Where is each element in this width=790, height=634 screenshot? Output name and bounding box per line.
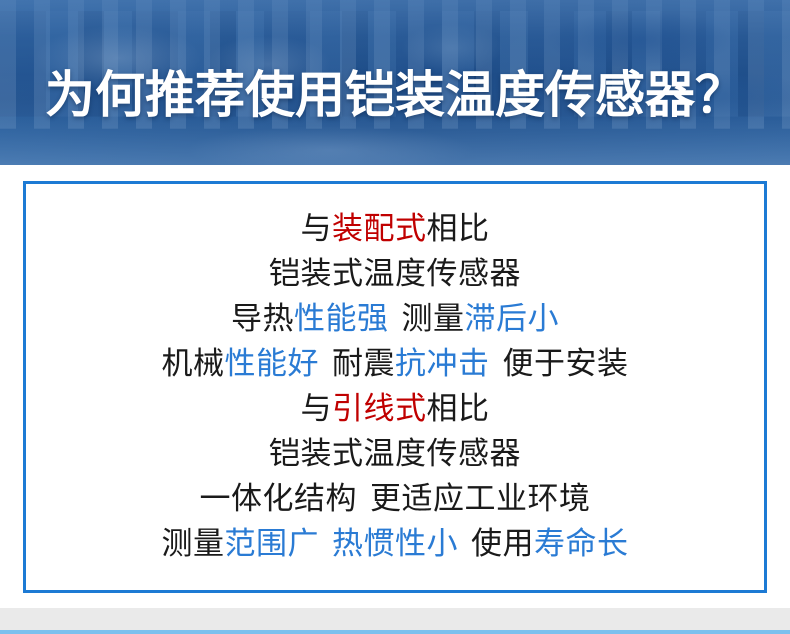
text-segment-black: 与 — [301, 391, 333, 426]
text-segment-black: 便于安装 — [503, 346, 629, 381]
text-segment-blue: 寿命长 — [534, 526, 629, 561]
text-segment-black: 铠装式温度传感器 — [269, 436, 521, 471]
text-segment-black: 与 — [301, 211, 333, 246]
text-segment-black: 铠装式温度传感器 — [269, 256, 521, 291]
text-segment-blue: 范围广 — [225, 526, 320, 561]
text-segment-black: 相比 — [427, 391, 490, 426]
bordered-content-panel: 与装配式相比铠装式温度传感器导热性能强测量滞后小机械性能好耐震抗冲击便于安装与引… — [23, 181, 767, 593]
text-segment-black: 相比 — [427, 211, 490, 246]
text-segment-red: 引线式 — [332, 391, 427, 426]
hero-banner: 为何推荐使用铠装温度传感器？ — [0, 0, 790, 165]
text-segment-blue: 热惯性小 — [332, 526, 458, 561]
footer-blue-strip — [0, 630, 790, 634]
text-segment-red: 装配式 — [332, 211, 427, 246]
text-segment-black: 使用 — [471, 526, 534, 561]
benefit-line: 一体化结构更适应工业环境 — [26, 476, 764, 521]
content-area: 与装配式相比铠装式温度传感器导热性能强测量滞后小机械性能好耐震抗冲击便于安装与引… — [0, 165, 790, 608]
text-segment-black: 测量 — [402, 301, 465, 336]
text-segment-blue: 性能好 — [225, 346, 320, 381]
footer-gray-strip — [0, 608, 790, 630]
text-segment-blue: 滞后小 — [465, 301, 560, 336]
text-segment-black: 一体化结构 — [200, 481, 358, 516]
benefit-line: 与装配式相比 — [26, 206, 764, 251]
benefit-line: 与引线式相比 — [26, 386, 764, 431]
text-segment-black: 机械 — [162, 346, 225, 381]
benefit-line: 测量范围广热惯性小使用寿命长 — [26, 521, 764, 566]
benefit-text-block: 与装配式相比铠装式温度传感器导热性能强测量滞后小机械性能好耐震抗冲击便于安装与引… — [26, 206, 764, 566]
text-segment-blue: 抗冲击 — [395, 346, 490, 381]
benefit-line: 铠装式温度传感器 — [26, 431, 764, 476]
benefit-line: 铠装式温度传感器 — [26, 251, 764, 296]
text-segment-blue: 性能强 — [294, 301, 389, 336]
promo-page: 为何推荐使用铠装温度传感器？ 与装配式相比铠装式温度传感器导热性能强测量滞后小机… — [0, 0, 790, 634]
page-title: 为何推荐使用铠装温度传感器？ — [0, 0, 790, 165]
text-segment-black: 测量 — [162, 526, 225, 561]
benefit-line: 机械性能好耐震抗冲击便于安装 — [26, 341, 764, 386]
text-segment-black: 导热 — [231, 301, 294, 336]
text-segment-black: 耐震 — [332, 346, 395, 381]
text-segment-black: 更适应工业环境 — [370, 481, 591, 516]
benefit-line: 导热性能强测量滞后小 — [26, 296, 764, 341]
